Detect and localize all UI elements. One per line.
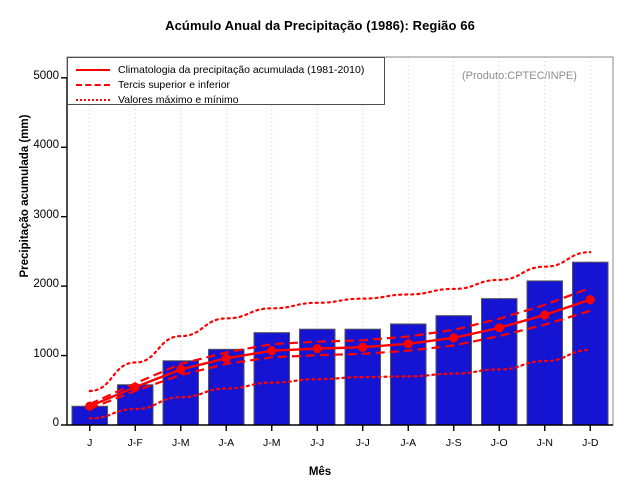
data-point-marker — [358, 343, 367, 352]
x-axis-tick-label: J-F — [112, 437, 158, 449]
x-axis-tick-label: J-A — [385, 437, 431, 449]
bar — [436, 316, 471, 425]
x-axis-tick-label: J-N — [522, 437, 568, 449]
x-axis-tick-label: J — [67, 437, 113, 449]
data-point-marker — [404, 339, 413, 348]
legend-entry-label: Tercis superior e inferior — [118, 78, 230, 92]
x-axis-tick-label: J-D — [567, 437, 613, 449]
y-axis-tick-label: 3000 — [13, 209, 59, 221]
x-axis-tick-label: J-O — [476, 437, 522, 449]
x-axis-tick-label: J-J — [294, 437, 340, 449]
data-point-marker — [176, 365, 185, 374]
x-axis-tick-label: J-M — [249, 437, 295, 449]
legend-dotted-line-icon — [76, 93, 110, 107]
data-point-marker — [449, 333, 458, 342]
x-axis-tick-label: J-M — [158, 437, 204, 449]
legend-entry: Climatologia da precipitação acumulada (… — [68, 62, 384, 77]
chart-legend: Climatologia da precipitação acumulada (… — [67, 57, 385, 105]
legend-entry: Valores máximo e mínimo — [68, 92, 384, 107]
y-axis-tick-label: 5000 — [13, 70, 59, 82]
bar — [573, 262, 608, 425]
x-axis-tick-label: J-S — [431, 437, 477, 449]
legend-entry: Tercis superior e inferior — [68, 77, 384, 92]
data-point-marker — [267, 346, 276, 355]
data-point-marker — [586, 295, 595, 304]
legend-dashed-line-icon — [76, 78, 110, 92]
legend-entry-label: Climatologia da precipitação acumulada (… — [118, 63, 364, 77]
x-axis-tick-label: J-J — [340, 437, 386, 449]
data-point-marker — [222, 354, 231, 363]
bar — [300, 329, 335, 425]
y-axis-tick-label: 0 — [13, 417, 59, 429]
bar — [482, 299, 517, 425]
bar — [527, 281, 562, 425]
data-point-marker — [495, 323, 504, 332]
producer-note: (Produto:CPTEC/INPE) — [462, 70, 577, 82]
chart-container: Acúmulo Anual da Precipitação (1986): Re… — [0, 0, 640, 500]
legend-entry-label: Valores máximo e mínimo — [118, 93, 239, 107]
data-point-marker — [313, 344, 322, 353]
x-axis-tick-label: J-A — [203, 437, 249, 449]
y-axis-tick-label: 4000 — [13, 139, 59, 151]
y-axis-tick-label: 2000 — [13, 278, 59, 290]
data-point-marker — [131, 383, 140, 392]
bar — [391, 324, 426, 425]
y-axis-tick-label: 1000 — [13, 348, 59, 360]
legend-solid-line-icon — [76, 63, 110, 77]
data-point-marker — [540, 310, 549, 319]
data-point-marker — [85, 402, 94, 411]
